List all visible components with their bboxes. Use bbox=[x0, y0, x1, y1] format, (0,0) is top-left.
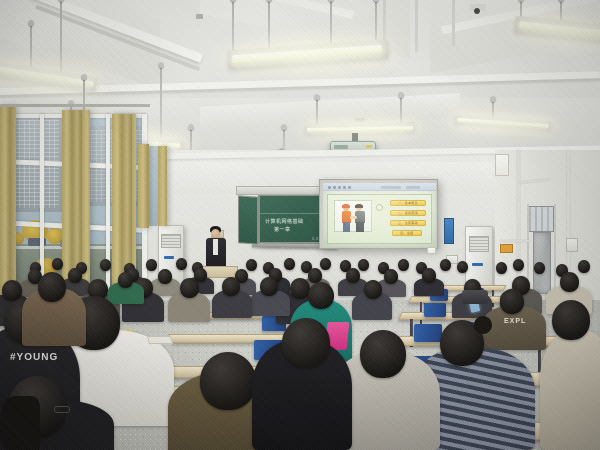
student-head bbox=[68, 268, 82, 283]
slide-illustration bbox=[334, 200, 372, 232]
curtain-rail bbox=[0, 104, 150, 107]
student-head bbox=[513, 259, 524, 271]
ac-grille-icon bbox=[161, 234, 180, 248]
student-head bbox=[146, 259, 157, 271]
projector-vent-icon bbox=[334, 145, 348, 149]
student-head bbox=[346, 268, 360, 283]
slide-button: 三、注意事项 bbox=[390, 220, 426, 226]
student-head bbox=[282, 318, 330, 368]
student-head bbox=[260, 277, 278, 296]
window-curtain bbox=[0, 106, 16, 306]
student-head bbox=[496, 262, 507, 274]
student-head bbox=[578, 260, 590, 273]
window-curtain bbox=[138, 144, 149, 228]
wall-switch-icon bbox=[500, 244, 513, 253]
ac-grille-icon bbox=[469, 236, 490, 252]
wall-notice-sign bbox=[444, 218, 454, 244]
slide-toolbar bbox=[323, 183, 436, 191]
ceiling-rib bbox=[415, 0, 418, 52]
slide-button: 四、总结 bbox=[392, 230, 422, 236]
student-head bbox=[308, 268, 322, 283]
cartoon-figure-legs bbox=[343, 222, 350, 232]
student-head bbox=[384, 269, 398, 284]
student-head bbox=[176, 258, 187, 270]
light-rod bbox=[316, 98, 318, 126]
student-bun bbox=[474, 316, 492, 334]
student-head bbox=[2, 280, 22, 301]
ceiling-fitting-icon bbox=[474, 8, 480, 14]
projector-indicator-icon bbox=[366, 145, 372, 148]
ceiling-rib bbox=[452, 0, 455, 46]
light-rod bbox=[232, 0, 234, 56]
projection-screen: 一、基本概念 二、适用范围 三、注意事项 四、总结 bbox=[319, 179, 438, 249]
student-head bbox=[100, 259, 111, 271]
slide-button: 二、适用范围 bbox=[390, 210, 426, 216]
student-head bbox=[158, 269, 172, 284]
window-mullion bbox=[106, 114, 110, 302]
wall-notice-poster bbox=[427, 247, 436, 254]
student-head bbox=[560, 272, 579, 292]
long-hair bbox=[0, 396, 40, 450]
light-rod bbox=[60, 0, 62, 74]
wall-notice-poster bbox=[495, 154, 509, 176]
student-head bbox=[180, 278, 199, 298]
presenter-shirt bbox=[213, 239, 218, 255]
student-head bbox=[320, 258, 331, 270]
window-curtain bbox=[158, 146, 167, 226]
chalkboard-left-panel bbox=[238, 195, 258, 244]
student-head bbox=[552, 300, 590, 340]
student-head bbox=[457, 261, 468, 273]
cartoon-figure-hair bbox=[342, 204, 350, 208]
light-rod bbox=[400, 96, 402, 124]
student-head bbox=[222, 277, 240, 296]
student-head bbox=[360, 330, 406, 378]
student-head bbox=[38, 272, 66, 302]
classroom-chair bbox=[424, 303, 446, 317]
student-torso bbox=[540, 330, 600, 450]
light-rod bbox=[160, 66, 162, 138]
light-rod bbox=[375, 0, 377, 40]
student-head bbox=[200, 352, 256, 410]
ceiling-fitting-icon bbox=[196, 14, 203, 19]
light-rod bbox=[330, 0, 332, 46]
wall-conduit bbox=[500, 240, 530, 242]
ac-badge-icon bbox=[472, 263, 483, 266]
student-head bbox=[246, 259, 257, 271]
hoodie-text: #YOUNG bbox=[10, 352, 58, 363]
slide-button: 一、基本概念 bbox=[390, 200, 426, 206]
chalk-line: 计算机网络基础 bbox=[265, 218, 304, 225]
student-head bbox=[364, 280, 382, 299]
student-head bbox=[422, 268, 436, 283]
student-head bbox=[52, 258, 63, 270]
student-head bbox=[118, 272, 133, 288]
student-head bbox=[440, 259, 451, 271]
wall-junction-box bbox=[566, 238, 578, 252]
chalk-line: 第一章 bbox=[274, 226, 291, 233]
classroom-chair bbox=[414, 324, 442, 342]
desk-item-notebook bbox=[147, 336, 173, 344]
cartoon-figure-legs bbox=[356, 222, 364, 232]
slide-content: 一、基本概念 二、适用范围 三、注意事项 四、总结 bbox=[327, 194, 432, 244]
eyeglasses-icon bbox=[54, 406, 70, 413]
student-head bbox=[534, 262, 545, 274]
student-head bbox=[500, 289, 524, 314]
cartoon-figure-hair bbox=[355, 204, 363, 208]
light-rod bbox=[268, 0, 270, 48]
classroom-photo: 计算机网络基础 第一章 1.1节 bbox=[0, 0, 600, 450]
student-head bbox=[398, 259, 409, 271]
projection-screen-surface: 一、基本概念 二、适用范围 三、注意事项 四、总结 bbox=[323, 183, 436, 247]
student-head bbox=[290, 278, 310, 299]
wall-conduit bbox=[517, 150, 520, 295]
slide-seal-icon bbox=[376, 204, 383, 211]
student-head bbox=[284, 258, 295, 270]
ceiling-fitting-icon bbox=[355, 118, 365, 122]
ac-badge-icon bbox=[164, 256, 174, 259]
jacket-text: EXPL bbox=[504, 318, 526, 325]
student-head bbox=[358, 259, 369, 271]
student-head bbox=[308, 282, 334, 309]
cartoon-handshake-icon bbox=[350, 216, 357, 219]
door-frame bbox=[527, 204, 556, 296]
desk-bag bbox=[462, 290, 488, 304]
